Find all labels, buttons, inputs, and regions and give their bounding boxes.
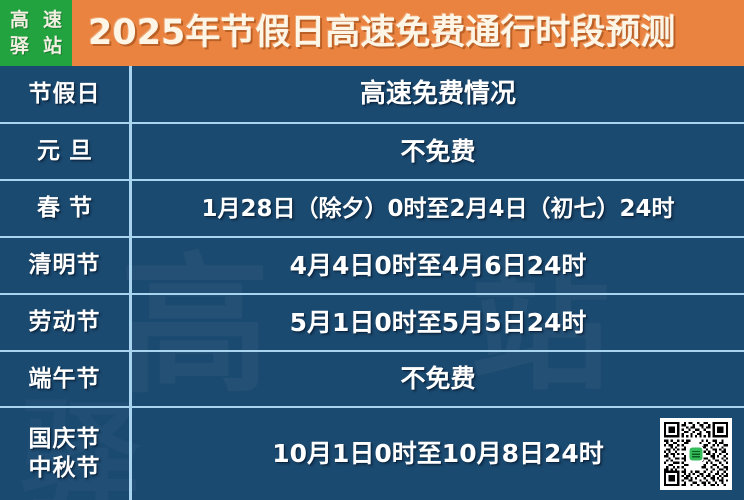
row-holiday-label-line1: 国庆节 [29,425,101,454]
qr-code-icon[interactable] [660,418,732,490]
row-holiday-label: 劳动节 [29,308,101,337]
table-row: 端午节 不免费 [0,352,744,408]
page-title: 2025年节假日高速免费通行时段预测 [88,13,675,53]
row-holiday-label: 清明节 [29,251,101,280]
table-row: 元旦 不免费 [0,124,744,181]
column-header-status: 高速免费情况 [360,79,516,109]
logo-char-1: 高 [3,7,36,33]
column-header-holiday-cell: 节假日 [0,66,132,122]
row-period-cell-laodong: 5月1日0时至5月5日24时 [132,295,744,350]
column-header-holiday: 节假日 [29,80,101,109]
row-period-cell-duanwu: 不免费 [132,352,744,406]
holiday-toll-table: 节假日 高速免费情况 元旦 不免费 春节 1月28日（除夕）0时至2月4日（初七… [0,66,744,500]
table-row: 清明节 4月4日0时至4月6日24时 [0,238,744,295]
row-holiday-cell-laodong: 劳动节 [0,295,132,350]
row-period-value: 10月1日0时至10月8日24时 [272,439,604,469]
table-row: 春节 1月28日（除夕）0时至2月4日（初七）24时 [0,181,744,238]
table-header-row: 节假日 高速免费情况 [0,66,744,124]
row-holiday-cell-qingming: 清明节 [0,238,132,293]
row-period-value: 1月28日（除夕）0时至2月4日（初七）24时 [201,194,674,224]
row-period-cell-qingming: 4月4日0时至4月6日24时 [132,238,744,293]
logo-char-3: 驿 [3,33,36,59]
logo-char-2: 速 [36,7,69,33]
row-holiday-label: 元旦 [28,137,101,166]
table-row: 国庆节 中秋节 10月1日0时至10月8日24时 [0,408,744,500]
header-title-container: 2025年节假日高速免费通行时段预测 [72,0,744,66]
row-holiday-label: 春节 [28,194,101,223]
row-period-value: 5月1日0时至5月5日24时 [290,308,587,338]
row-holiday-cell-chunjie: 春节 [0,181,132,236]
row-holiday-label-line2: 中秋节 [29,454,101,483]
infographic-root: 高 站 驿 高 速 驿 站 2025年节假日高速免费通行时段预测 节假日 高速免… [0,0,744,500]
row-period-value: 不免费 [400,137,475,167]
row-holiday-cell-yuandan: 元旦 [0,124,132,179]
row-period-value: 不免费 [400,364,475,394]
row-holiday-label: 端午节 [29,365,101,394]
row-period-cell-guoqing-zhongqiu: 10月1日0时至10月8日24时 [132,408,744,500]
logo-char-4: 站 [36,33,69,59]
brand-logo[interactable]: 高 速 驿 站 [0,0,72,66]
qr-code-svg [664,422,728,486]
column-header-status-cell: 高速免费情况 [132,66,744,122]
row-holiday-cell-duanwu: 端午节 [0,352,132,406]
header-bar: 高 速 驿 站 2025年节假日高速免费通行时段预测 [0,0,744,66]
row-period-value: 4月4日0时至4月6日24时 [290,251,587,281]
row-period-cell-chunjie: 1月28日（除夕）0时至2月4日（初七）24时 [132,181,744,236]
row-period-cell-yuandan: 不免费 [132,124,744,179]
row-holiday-cell-guoqing-zhongqiu: 国庆节 中秋节 [0,408,132,500]
table-row: 劳动节 5月1日0时至5月5日24时 [0,295,744,352]
